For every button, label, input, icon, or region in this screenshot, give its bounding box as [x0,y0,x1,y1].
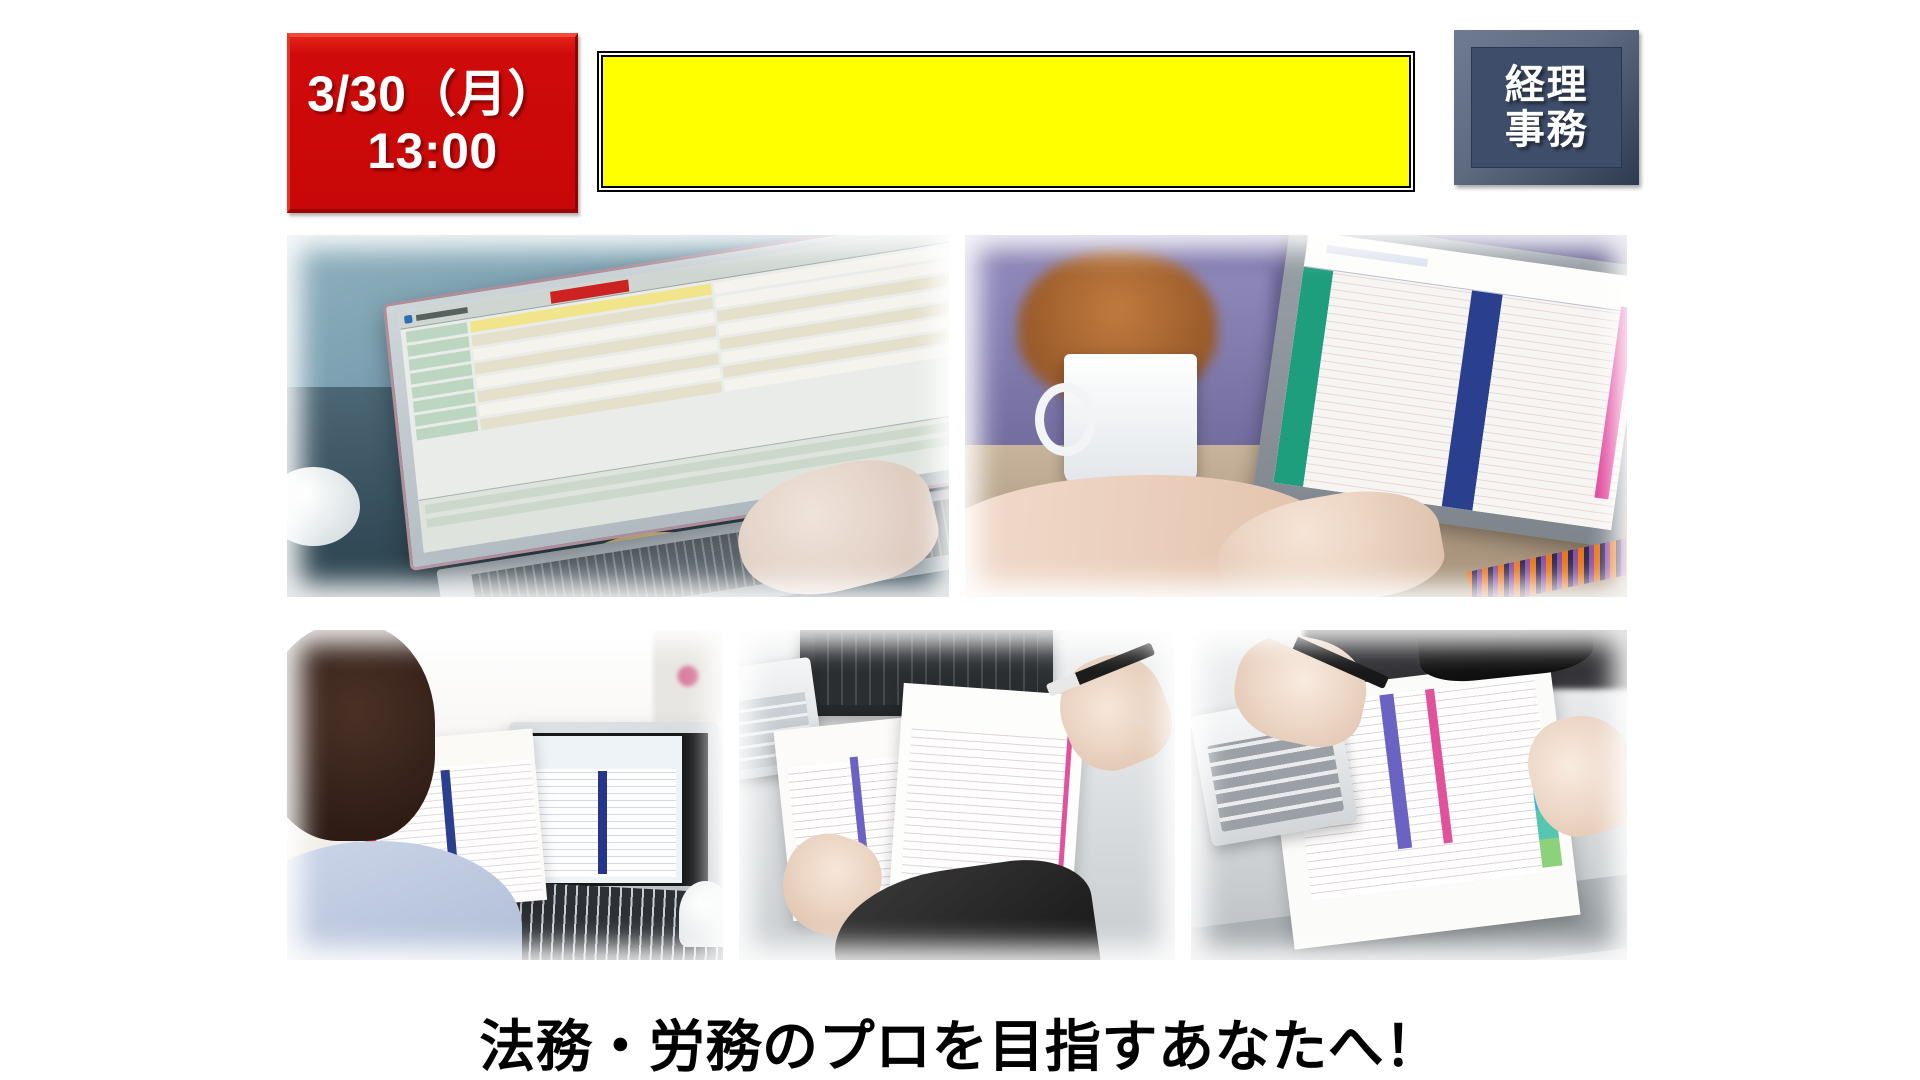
date-badge-time: 13:00 [367,123,497,180]
photo-laptop-accounting-software [287,235,949,597]
section-divider [598,771,607,874]
coffee-mug [1064,354,1196,484]
date-time-badge: 3/30（月） 13:00 [287,33,578,213]
photo-calculator-ledger [1191,630,1627,960]
photo-overhead-forms-calculator [739,630,1175,960]
category-badge-line1: 経理 [1505,63,1588,108]
category-badge: 経理 事務 [1454,30,1639,185]
tax-return-form-screen [1272,235,1627,531]
flower-decoration [653,630,723,722]
date-badge-date: 3/30（月） [307,66,558,123]
app-icon [404,314,413,323]
gallery-row-top [287,235,1627,597]
person-head [287,630,435,841]
photo-gallery [287,235,1627,960]
laptop-screen [520,733,708,886]
form-body [1272,267,1627,531]
photo-hands-typing-tax-form [965,235,1627,597]
photo-woman-reviewing-form [287,630,723,960]
tax-return-form-screen [524,736,682,883]
seminar-poster: 3/30（月） 13:00 経理 事務 [0,0,1920,1080]
title-banner [601,55,1411,188]
window-title-text [416,306,468,320]
category-badge-inner: 経理 事務 [1471,47,1622,168]
footer-tagline: 法務・労務のプロを目指すあなたへ！ [0,1002,1920,1080]
category-badge-line2: 事務 [1505,108,1588,153]
cup-shape [679,881,723,947]
gallery-row-bottom [287,630,1627,960]
